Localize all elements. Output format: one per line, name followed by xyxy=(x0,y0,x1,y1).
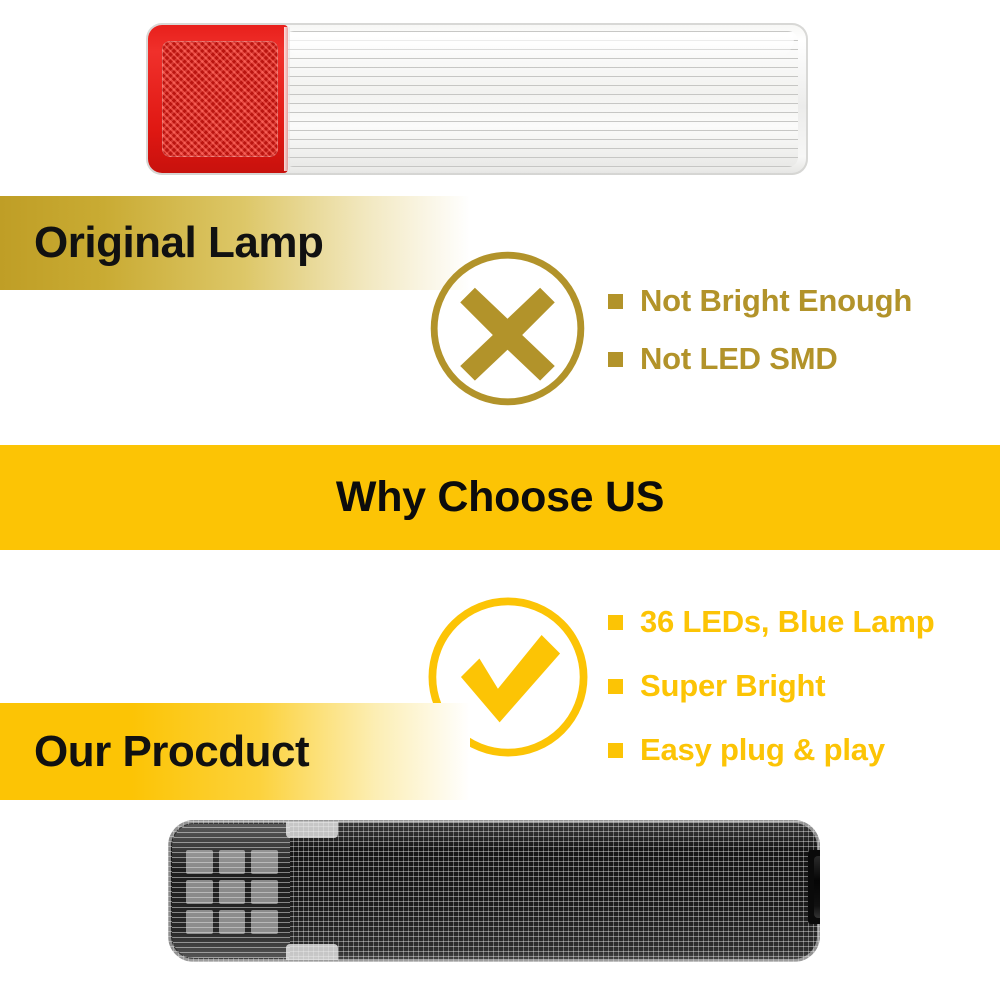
original-lamp-seam xyxy=(284,27,290,171)
our-product-banner-label: Our Procduct xyxy=(34,727,309,777)
square-bullet-icon xyxy=(608,743,623,758)
led-lamp-connector xyxy=(814,856,820,918)
why-choose-us-label: Why Choose US xyxy=(336,473,664,522)
led-diode xyxy=(251,850,278,874)
list-item: 36 LEDs, Blue Lamp xyxy=(608,604,934,640)
square-bullet-icon xyxy=(608,615,623,630)
square-bullet-icon xyxy=(608,352,623,367)
cross-mark-icon xyxy=(426,247,589,410)
led-diode xyxy=(219,880,246,904)
our-product-banner: Our Procduct xyxy=(0,703,470,800)
list-item-label: Not LED SMD xyxy=(640,341,838,377)
list-item-label: Not Bright Enough xyxy=(640,283,912,319)
original-lamp-reflector-texture xyxy=(162,41,278,157)
led-lamp-diode-grid xyxy=(186,850,278,934)
led-diode xyxy=(186,910,213,934)
list-item-label: Super Bright xyxy=(640,668,825,704)
led-diode xyxy=(219,910,246,934)
original-lamp-banner-label: Original Lamp xyxy=(34,218,323,268)
original-lamp-red-reflector xyxy=(148,25,288,173)
why-choose-us-banner: Why Choose US xyxy=(0,445,1000,550)
led-diode xyxy=(186,880,213,904)
list-item: Easy plug & play xyxy=(608,732,934,768)
original-lamp-banner: Original Lamp xyxy=(0,196,470,290)
list-item: Not LED SMD xyxy=(608,341,912,377)
product-comparison-infographic: Original Lamp Not Bright Enough Not LED … xyxy=(0,0,1000,1000)
led-diode xyxy=(251,910,278,934)
our-product-benefits-list: 36 LEDs, Blue Lamp Super Bright Easy plu… xyxy=(608,604,934,768)
original-lamp-photo xyxy=(146,23,808,175)
original-lamp-lens-highlight xyxy=(286,33,794,59)
led-diode xyxy=(186,850,213,874)
led-lamp-photo xyxy=(168,820,820,962)
led-lamp-bottom-clip xyxy=(286,944,338,960)
list-item-label: Easy plug & play xyxy=(640,732,885,768)
original-lamp-drawbacks-list: Not Bright Enough Not LED SMD xyxy=(608,283,912,377)
led-diode xyxy=(219,850,246,874)
led-diode xyxy=(251,880,278,904)
led-lamp-housing xyxy=(168,820,820,962)
list-item: Super Bright xyxy=(608,668,934,704)
led-lamp-top-clip xyxy=(286,822,338,838)
square-bullet-icon xyxy=(608,679,623,694)
original-lamp-housing xyxy=(146,23,808,175)
list-item: Not Bright Enough xyxy=(608,283,912,319)
square-bullet-icon xyxy=(608,294,623,309)
list-item-label: 36 LEDs, Blue Lamp xyxy=(640,604,934,640)
